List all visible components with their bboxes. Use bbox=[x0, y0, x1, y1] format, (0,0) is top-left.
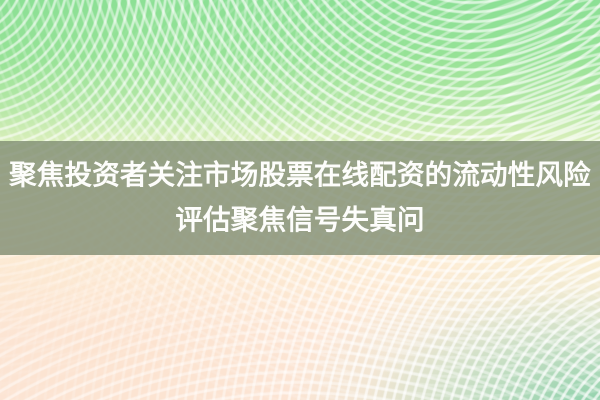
banner-image: 聚焦投资者关注市场股票在线配资的流动性风险评估聚焦信号失真问 bbox=[0, 0, 600, 400]
headline-text: 聚焦投资者关注市场股票在线配资的流动性风险评估聚焦信号失真问 bbox=[0, 153, 600, 243]
headline-band: 聚焦投资者关注市场股票在线配资的流动性风险评估聚焦信号失真问 bbox=[0, 141, 600, 255]
